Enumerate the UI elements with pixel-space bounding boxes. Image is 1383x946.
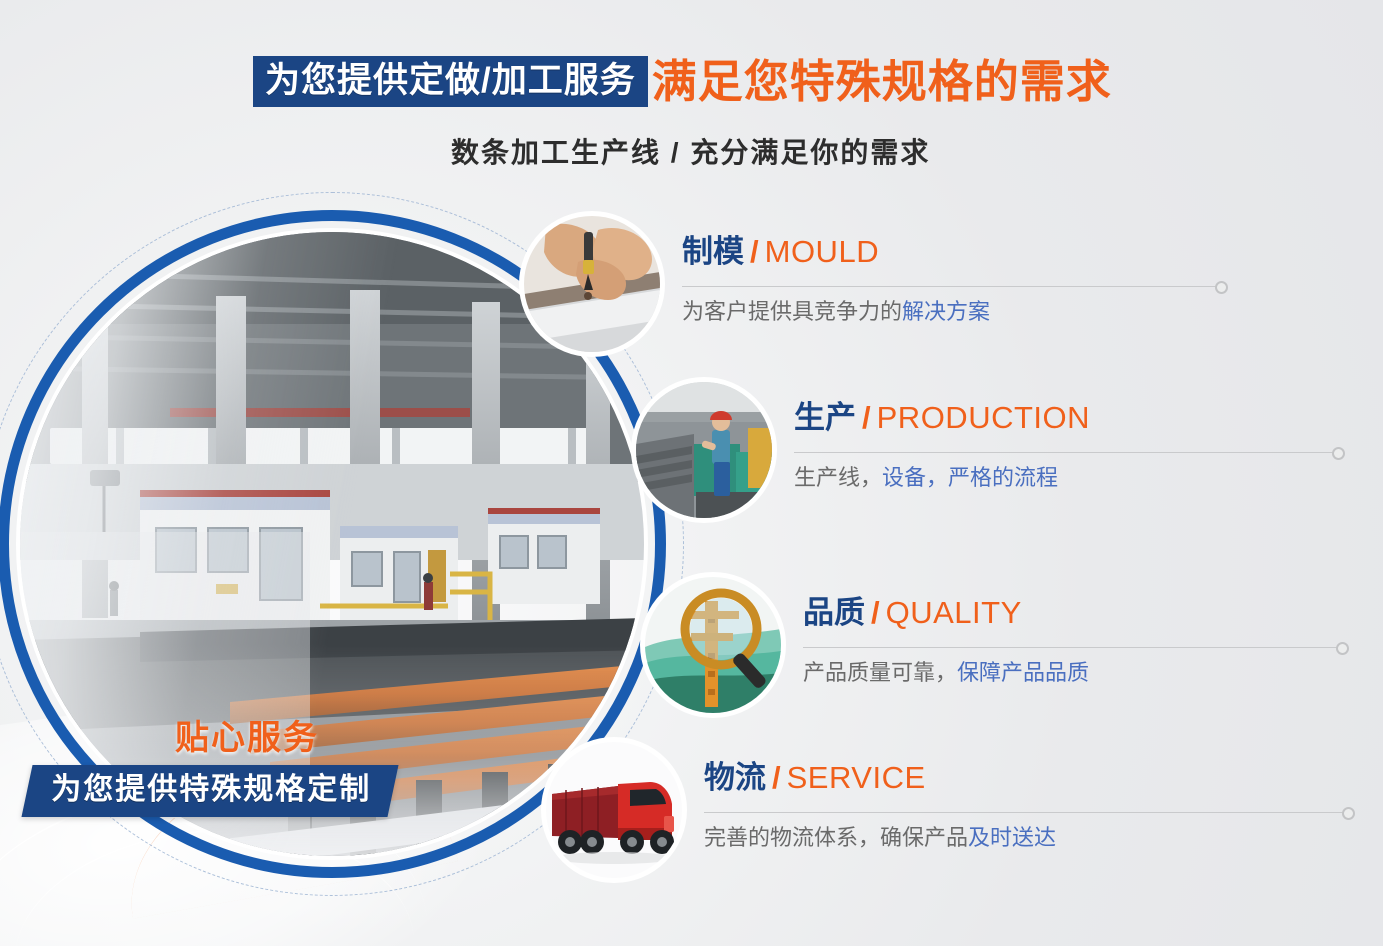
feature-body: 生产/PRODUCTION 生产线，设备，严格的流程: [794, 382, 1339, 489]
feature-title: 生产/PRODUCTION: [794, 402, 1339, 433]
feature-description-head: 完善的物流体系，确保产品: [704, 825, 968, 850]
feature-description: 生产线，设备，严格的流程: [794, 467, 1339, 489]
feature-description-tail: 保障产品品质: [957, 660, 1089, 685]
feature-description-head: 产品质量可靠，: [803, 660, 957, 685]
headline-row: 为您提供定做/加工服务 满足您特殊规格的需求: [253, 56, 1112, 107]
feature-description: 为客户提供具竞争力的解决方案: [682, 301, 1222, 323]
badge-bar-label: 为您提供特殊规格定制: [51, 775, 371, 805]
feature-body: 制模/MOULD 为客户提供具竞争力的解决方案: [682, 216, 1222, 323]
feature-title-separator: /: [871, 595, 880, 630]
headline-main: 满足您特殊规格的需求: [652, 59, 1112, 104]
feature-title-separator: /: [750, 234, 759, 269]
feature-title-en: MOULD: [765, 234, 879, 269]
feature-description: 产品质量可靠，保障产品品质: [803, 662, 1343, 684]
feature-description-head: 为客户提供具竞争力的: [682, 299, 902, 324]
feature-divider-dot-icon: [1336, 642, 1349, 655]
feature-divider: [704, 812, 1349, 813]
production-line-worker-icon: [636, 382, 772, 518]
feature-item-mould[interactable]: 制模/MOULD 为客户提供具竞争力的解决方案: [524, 216, 1222, 352]
headline-subtitle: 数条加工生产线 / 充分满足你的需求: [451, 131, 930, 171]
feature-title-separator: /: [862, 400, 871, 435]
hand-scribing-tool-icon: [524, 216, 660, 352]
feature-body: 品质/QUALITY 产品质量可靠，保障产品品质: [803, 577, 1343, 684]
feature-title: 品质/QUALITY: [803, 597, 1343, 628]
feature-title: 物流/SERVICE: [704, 762, 1349, 793]
feature-description-tail: 设备，严格的流程: [882, 465, 1058, 490]
feature-item-quality[interactable]: 品质/QUALITY 产品质量可靠，保障产品品质: [645, 577, 1343, 713]
feature-divider-dot-icon: [1215, 281, 1228, 294]
feature-description-tail: 及时送达: [968, 825, 1056, 850]
feature-divider-dot-icon: [1342, 807, 1355, 820]
feature-description: 完善的物流体系，确保产品及时送达: [704, 827, 1349, 849]
feature-title-cn: 制模: [682, 234, 744, 269]
feature-title: 制模/MOULD: [682, 236, 1222, 267]
feature-title-en: PRODUCTION: [877, 400, 1090, 435]
feature-divider: [794, 452, 1339, 453]
feature-divider-dot-icon: [1332, 447, 1345, 460]
feature-title-cn: 品质: [803, 595, 865, 630]
feature-title-en: QUALITY: [886, 595, 1022, 630]
feature-title-cn: 生产: [794, 400, 856, 435]
feature-divider: [682, 286, 1222, 287]
feature-description-tail: 解决方案: [902, 299, 990, 324]
feature-item-production[interactable]: 生产/PRODUCTION 生产线，设备，严格的流程: [636, 382, 1339, 518]
red-delivery-truck-icon: [546, 742, 682, 878]
feature-item-service[interactable]: 物流/SERVICE 完善的物流体系，确保产品及时送达: [546, 742, 1349, 878]
headline-tag-badge: 为您提供定做/加工服务: [253, 56, 648, 107]
feature-title-separator: /: [772, 760, 781, 795]
feature-title-cn: 物流: [704, 760, 766, 795]
banner-canvas: 为您提供定做/加工服务 满足您特殊规格的需求 数条加工生产线 / 充分满足你的需…: [0, 0, 1383, 946]
badge-title: 贴心服务: [175, 710, 319, 759]
badge-bar: 为您提供特殊规格定制: [21, 765, 398, 817]
feature-description-head: 生产线，: [794, 465, 882, 490]
feature-body: 物流/SERVICE 完善的物流体系，确保产品及时送达: [704, 742, 1349, 849]
feature-divider: [803, 647, 1343, 648]
feature-title-en: SERVICE: [787, 760, 926, 795]
magnifying-glass-inspection-icon: [645, 577, 781, 713]
